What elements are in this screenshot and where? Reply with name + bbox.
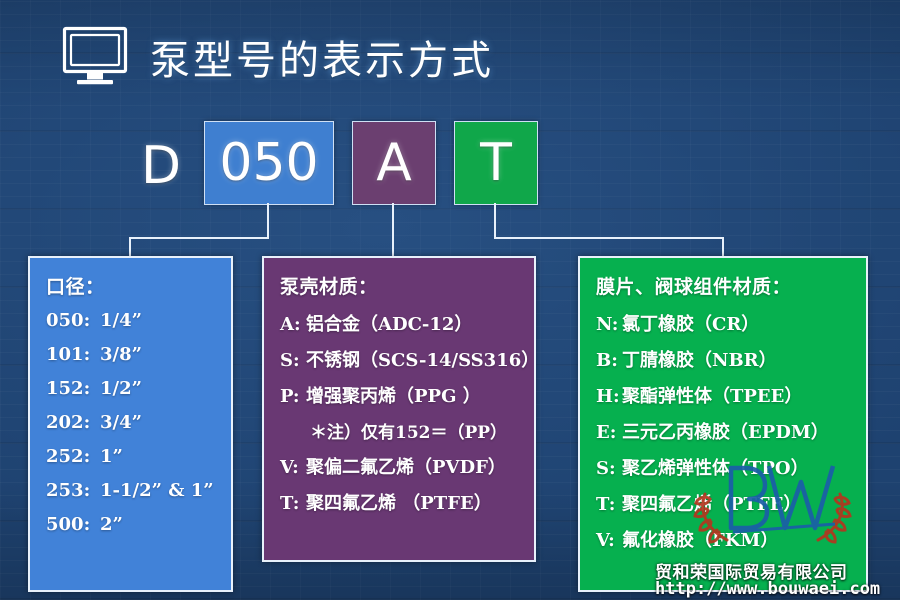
legend-row: V: 聚偏二氟乙烯（PVDF） [280,453,518,479]
code-chip-bore[interactable]: 050 [204,121,334,205]
legend-row: S: 不锈钢（SCS-14/SS316） [280,346,518,372]
row-key: A: [280,314,306,335]
row-key: 253: [46,480,100,501]
row-key: 050: [46,310,100,331]
row-key: B: [596,350,622,371]
panel-title-elastomer: 膜片、阀球组件材质： [596,272,850,299]
row-value: 2” [100,514,123,535]
row-key: 152: [46,378,100,399]
panel-title-body-material: 泵壳材质： [280,272,518,299]
row-value: 氯丁橡胶（CR） [622,310,759,336]
row-key: S: [596,458,622,479]
page-header: 泵型号的表示方式 [62,26,494,88]
row-key: T: [596,494,622,515]
row-key: T: [280,493,306,514]
legend-row-note: ＊注）仅有152＝（PP） [280,418,518,443]
row-value: 增强聚丙烯（PPG ） [306,382,481,408]
row-key: 101: [46,344,100,365]
legend-row: A: 铝合金（ADC-12） [280,310,518,336]
row-value: 三元乙丙橡胶（EPDM） [622,418,829,444]
monitor-icon [62,26,128,88]
connector-bore [130,203,268,256]
row-value: 聚四氟乙烯 （PTFE） [306,489,492,515]
code-chip-prefix[interactable]: D [130,130,192,202]
row-value: 聚偏二氟乙烯（PVDF） [306,453,506,479]
legend-row: P: 增强聚丙烯（PPG ） [280,382,518,408]
row-key: S: [280,350,306,371]
legend-panel-body-material: 泵壳材质： A: 铝合金（ADC-12） S: 不锈钢（SCS-14/SS316… [262,256,536,562]
row-key: P: [280,386,306,407]
row-value: 聚四氟乙烯（PTFE） [622,490,801,516]
legend-row: 050: 1/4” [46,310,215,331]
row-key: 500: [46,514,100,535]
panel-title-bore: 口径： [46,272,215,299]
legend-row: 101: 3/8” [46,344,215,365]
row-key: V: [280,457,306,478]
row-key: H: [596,386,622,407]
legend-row: T: 聚四氟乙烯 （PTFE） [280,489,518,515]
row-key: V: [596,530,622,551]
row-value: 3/4” [100,412,142,433]
slide-canvas: 泵型号的表示方式 D 050 A T 口径： 050: 1/4” 101: 3/… [0,0,900,600]
row-value: 丁腈橡胶（NBR） [622,346,777,372]
code-chip-body-material[interactable]: A [352,121,436,205]
legend-row: E: 三元乙丙橡胶（EPDM） [596,418,850,444]
row-value: 1/2” [100,378,142,399]
legend-row: N: 氯丁橡胶（CR） [596,310,850,336]
row-value: 1” [100,446,123,467]
row-value: 1-1/2” & 1” [100,480,214,501]
row-value: 1/4” [100,310,142,331]
legend-row: 252: 1” [46,446,215,467]
row-value: 不锈钢（SCS-14/SS316） [306,346,536,372]
row-value: 3/8” [100,344,142,365]
row-note-value: ＊注）仅有152＝（PP） [280,418,507,443]
row-key: N: [596,314,622,335]
legend-row: 253: 1-1/2” & 1” [46,480,215,501]
legend-row: 500: 2” [46,514,215,535]
legend-row: H: 聚酯弹性体（TPEE） [596,382,850,408]
row-key: 252: [46,446,100,467]
legend-row: S: 聚乙烯弹性体（TPO） [596,454,850,480]
legend-row: 152: 1/2” [46,378,215,399]
legend-row: V: 氟化橡胶（FKM） [596,526,850,552]
legend-row: T: 聚四氟乙烯（PTFE） [596,490,850,516]
row-key: E: [596,422,622,443]
row-key: 202: [46,412,100,433]
row-value: 聚酯弹性体（TPEE） [622,382,802,408]
page-title: 泵型号的表示方式 [150,28,494,86]
row-value: 聚乙烯弹性体（TPO） [622,454,809,480]
legend-panel-elastomer: 膜片、阀球组件材质： N: 氯丁橡胶（CR） B: 丁腈橡胶（NBR） H: 聚… [578,256,868,592]
legend-panel-bore: 口径： 050: 1/4” 101: 3/8” 152: 1/2” 202: 3… [28,256,233,592]
row-value: 铝合金（ADC-12） [306,310,472,336]
legend-row: 202: 3/4” [46,412,215,433]
legend-row: B: 丁腈橡胶（NBR） [596,346,850,372]
row-value: 氟化橡胶（FKM） [622,526,778,552]
code-chip-elastomer[interactable]: T [454,121,538,205]
connector-elastomer [495,203,723,256]
